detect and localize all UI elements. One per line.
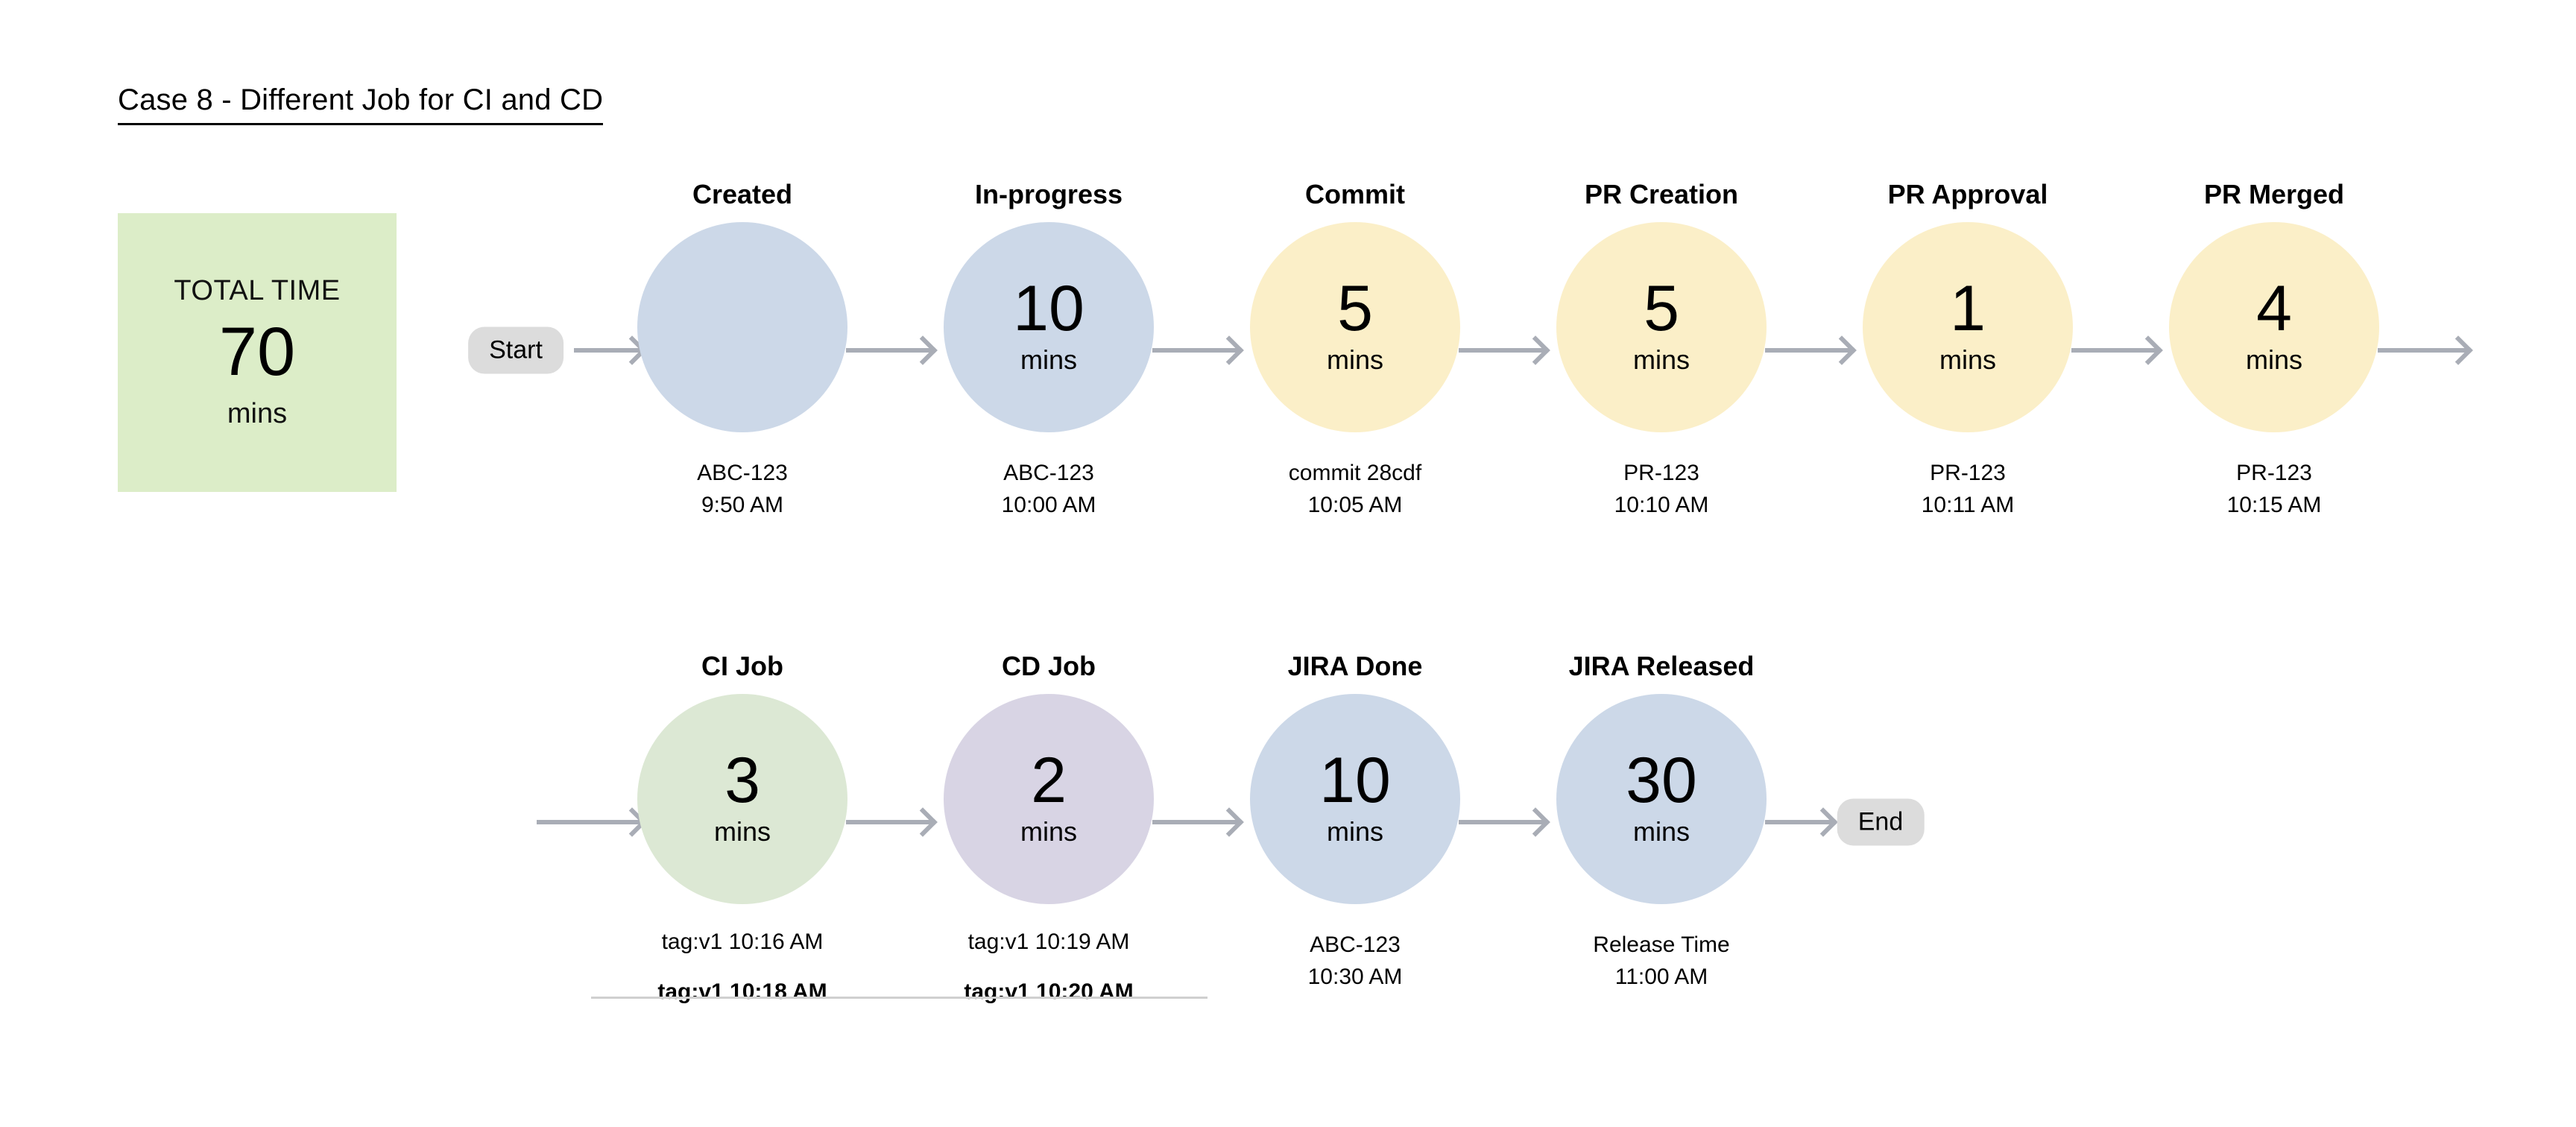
node-caption: tag:v1 10:19 AM tag:v1 10:20 AM bbox=[892, 926, 1205, 1008]
node-pr-approval[interactable]: PR Approval 1 mins PR-123 10:11 AM bbox=[1811, 179, 2124, 521]
node-jira-done[interactable]: JIRA Done 10 mins ABC-123 10:30 AM bbox=[1199, 651, 1512, 993]
node-unit: mins bbox=[714, 816, 771, 847]
node-caption-time: 10:15 AM bbox=[2118, 490, 2431, 522]
node-commit[interactable]: Commit 5 mins commit 28cdf 10:05 AM bbox=[1199, 179, 1512, 521]
node-caption-tier-planned: tag:v1 10:19 AM bbox=[892, 926, 1205, 967]
node-caption-ref: ABC-123 bbox=[1003, 461, 1094, 485]
node-caption-ref: PR-123 bbox=[2236, 461, 2312, 485]
circle-wrap: 1 mins bbox=[1811, 222, 2124, 432]
node-value: 10 bbox=[1319, 751, 1391, 812]
node-circle: 10 mins bbox=[1250, 694, 1460, 904]
circle-wrap bbox=[586, 222, 899, 432]
node-pr-creation[interactable]: PR Creation 5 mins PR-123 10:10 AM bbox=[1505, 179, 1818, 521]
circle-wrap: 10 mins bbox=[892, 222, 1205, 432]
node-caption: ABC-123 10:00 AM bbox=[892, 458, 1205, 521]
node-caption-time: 11:00 AM bbox=[1505, 962, 1818, 994]
node-caption: ABC-123 10:30 AM bbox=[1199, 929, 1512, 993]
node-title: JIRA Done bbox=[1199, 651, 1512, 682]
node-circle bbox=[637, 222, 847, 432]
node-caption-ref: PR-123 bbox=[1623, 461, 1699, 485]
node-caption-time: 9:50 AM bbox=[586, 490, 899, 522]
node-caption-time: 10:10 AM bbox=[1505, 490, 1818, 522]
node-value: 10 bbox=[1013, 279, 1085, 340]
node-title: PR Creation bbox=[1505, 179, 1818, 210]
node-pr-merged[interactable]: PR Merged 4 mins PR-123 10:15 AM bbox=[2118, 179, 2431, 521]
node-circle: 3 mins bbox=[637, 694, 847, 904]
node-unit: mins bbox=[1020, 344, 1077, 376]
node-title: In-progress bbox=[892, 179, 1205, 210]
node-title: Commit bbox=[1199, 179, 1512, 210]
node-circle: 1 mins bbox=[1863, 222, 2073, 432]
node-circle: 5 mins bbox=[1250, 222, 1460, 432]
tier-separator-rule bbox=[591, 997, 1207, 999]
node-in-progress[interactable]: In-progress 10 mins ABC-123 10:00 AM bbox=[892, 179, 1205, 521]
node-caption-ref: commit 28cdf bbox=[1289, 461, 1421, 485]
end-pill[interactable]: End bbox=[1837, 799, 1925, 846]
node-created[interactable]: Created ABC-123 9:50 AM bbox=[586, 179, 899, 521]
page-title: Case 8 - Different Job for CI and CD bbox=[118, 83, 603, 125]
node-value: 4 bbox=[2256, 279, 2292, 340]
node-unit: mins bbox=[1633, 344, 1690, 376]
node-caption-ref: PR-123 bbox=[1930, 461, 2006, 485]
node-cd-job[interactable]: CD Job 2 mins tag:v1 10:19 AM tag:v1 10:… bbox=[892, 651, 1205, 1008]
node-title: JIRA Released bbox=[1505, 651, 1818, 682]
node-caption: ABC-123 9:50 AM bbox=[586, 458, 899, 521]
node-caption: commit 28cdf 10:05 AM bbox=[1199, 458, 1512, 521]
node-title: PR Merged bbox=[2118, 179, 2431, 210]
node-caption-time: 10:00 AM bbox=[892, 490, 1205, 522]
node-unit: mins bbox=[1327, 344, 1383, 376]
node-caption: PR-123 10:15 AM bbox=[2118, 458, 2431, 521]
node-caption-tier-actual: tag:v1 10:18 AM bbox=[586, 967, 899, 1008]
node-unit: mins bbox=[2246, 344, 2302, 376]
node-caption-time: 10:05 AM bbox=[1199, 490, 1512, 522]
node-caption-time: 10:30 AM bbox=[1199, 962, 1512, 994]
node-value: 3 bbox=[724, 751, 760, 812]
node-circle: 10 mins bbox=[944, 222, 1154, 432]
circle-wrap: 2 mins bbox=[892, 694, 1205, 904]
node-caption: PR-123 10:10 AM bbox=[1505, 458, 1818, 521]
circle-wrap: 30 mins bbox=[1505, 694, 1818, 904]
node-ci-job[interactable]: CI Job 3 mins tag:v1 10:16 AM tag:v1 10:… bbox=[586, 651, 899, 1008]
circle-wrap: 5 mins bbox=[1505, 222, 1818, 432]
diagram-canvas: Case 8 - Different Job for CI and CD TOT… bbox=[0, 0, 2576, 1127]
node-title: PR Approval bbox=[1811, 179, 2124, 210]
node-unit: mins bbox=[1939, 344, 1996, 376]
node-circle: 2 mins bbox=[944, 694, 1154, 904]
node-caption-time: 10:11 AM bbox=[1811, 490, 2124, 522]
node-value: 30 bbox=[1626, 751, 1697, 812]
start-pill[interactable]: Start bbox=[468, 327, 563, 374]
node-caption-ref: ABC-123 bbox=[697, 461, 788, 485]
node-caption: Release Time 11:00 AM bbox=[1505, 929, 1818, 993]
node-circle: 5 mins bbox=[1556, 222, 1767, 432]
node-title: CD Job bbox=[892, 651, 1205, 682]
total-time-label: TOTAL TIME bbox=[174, 275, 340, 307]
node-value: 5 bbox=[1644, 279, 1679, 340]
node-caption: tag:v1 10:16 AM tag:v1 10:18 AM bbox=[586, 926, 899, 1008]
circle-wrap: 3 mins bbox=[586, 694, 899, 904]
node-value: 1 bbox=[1950, 279, 1986, 340]
total-time-unit: mins bbox=[227, 398, 287, 430]
total-time-card: TOTAL TIME 70 mins bbox=[118, 213, 397, 492]
node-caption: PR-123 10:11 AM bbox=[1811, 458, 2124, 521]
node-title: CI Job bbox=[586, 651, 899, 682]
node-caption-tier-planned: tag:v1 10:16 AM bbox=[586, 926, 899, 967]
node-unit: mins bbox=[1633, 816, 1690, 847]
circle-wrap: 10 mins bbox=[1199, 694, 1512, 904]
node-unit: mins bbox=[1020, 816, 1077, 847]
circle-wrap: 5 mins bbox=[1199, 222, 1512, 432]
node-jira-released[interactable]: JIRA Released 30 mins Release Time 11:00… bbox=[1505, 651, 1818, 993]
node-circle: 4 mins bbox=[2169, 222, 2379, 432]
node-title: Created bbox=[586, 179, 899, 210]
node-caption-ref: Release Time bbox=[1593, 932, 1729, 957]
node-value: 2 bbox=[1031, 751, 1067, 812]
node-caption-tier-actual: tag:v1 10:20 AM bbox=[892, 967, 1205, 1008]
circle-wrap: 4 mins bbox=[2118, 222, 2431, 432]
total-time-value: 70 bbox=[219, 318, 295, 386]
node-caption-ref: ABC-123 bbox=[1310, 932, 1401, 957]
node-value: 5 bbox=[1337, 279, 1373, 340]
node-circle: 30 mins bbox=[1556, 694, 1767, 904]
node-unit: mins bbox=[1327, 816, 1383, 847]
